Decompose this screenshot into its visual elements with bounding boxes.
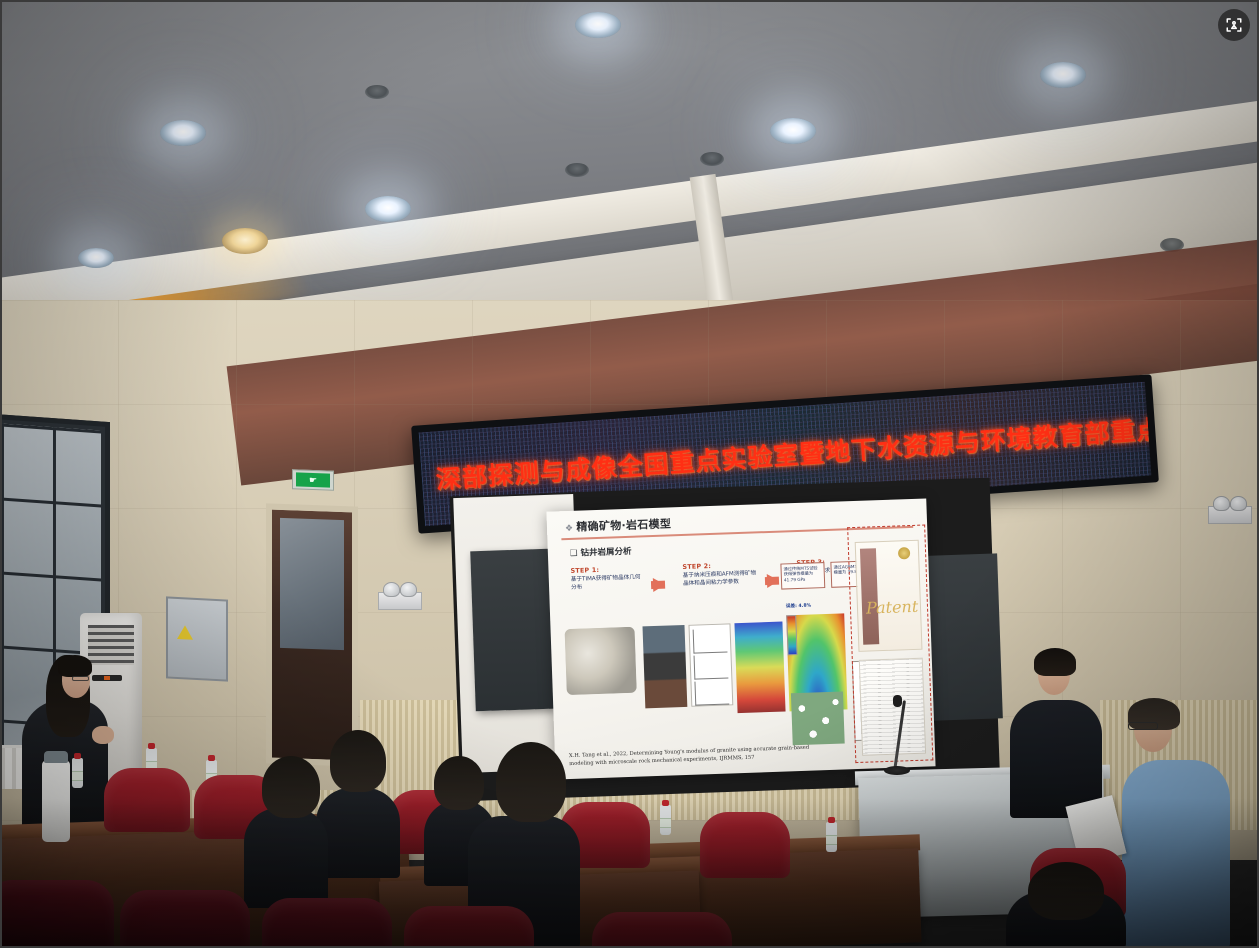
electrical-cabinet [166, 596, 228, 681]
ceiling-downlight [160, 120, 206, 146]
thermos-flask [42, 760, 70, 842]
glasses-icon [1128, 722, 1158, 730]
sem-image-stack [643, 625, 688, 708]
mineral-heatmap [734, 622, 785, 714]
ceiling-downlight [1040, 62, 1086, 88]
audience-head [496, 742, 566, 822]
ceiling-downlight-warm [222, 228, 268, 254]
ac-display [92, 675, 122, 681]
microphone-head [893, 695, 902, 707]
blackboard-left [470, 549, 554, 712]
conference-photo: ☛ 深部探测与成像全国重点实验室暨地下水资源与环境教育部重点实验室青年发展论坛 … [0, 0, 1259, 948]
ceiling-downlight [770, 118, 816, 144]
slide-steps: STEP 1: 基于TIMA获得矿物晶体几何分布 STEP 2: 基于纳米压痕和… [570, 556, 870, 566]
patent-word: Patent [866, 597, 919, 618]
microphone-base [884, 766, 910, 775]
emergency-light [378, 592, 422, 610]
sprinkler-head [365, 85, 389, 99]
water-bottle [72, 758, 83, 788]
ceiling-downlight [575, 12, 621, 38]
warning-triangle-icon [177, 625, 193, 640]
colorbar-legend [786, 615, 797, 655]
patent-group: Patent [847, 525, 933, 764]
arrow-right-icon [653, 578, 665, 592]
hair [1034, 648, 1076, 676]
emergency-light [1208, 506, 1252, 524]
auditorium-seat [592, 912, 732, 948]
diamond-bullet-icon: ❖ [565, 524, 574, 534]
audience-head [330, 730, 386, 792]
slide-citation: X.H. Tang et al., 2022, Determining Youn… [569, 744, 829, 769]
presenter-hand [92, 726, 114, 744]
patent-certificate: Patent [855, 540, 923, 652]
auditorium-seat [120, 890, 250, 948]
sprinkler-head [565, 163, 589, 177]
auditorium-seat [404, 906, 534, 948]
gold-seal-icon [898, 547, 910, 559]
slide-section-text: 钻井岩屑分析 [580, 547, 631, 559]
ceiling-downlight [365, 196, 411, 222]
indentation-curves [688, 623, 733, 706]
running-man-icon: ☛ [296, 472, 330, 487]
auditorium-seat [700, 812, 790, 878]
audience-head [1028, 862, 1104, 920]
auditorium-seat [104, 768, 190, 832]
arrow-right-icon [767, 574, 779, 588]
slide-step: STEP 2: 基于纳米压痕和AFM测得矿物晶体和晶间粘力学参数 [682, 560, 757, 588]
slide-section: ❑钻井岩屑分析 [570, 545, 632, 559]
body [1122, 760, 1230, 948]
slide-title: ❖精确矿物·岩石模型 [565, 515, 672, 535]
emergency-exit-sign: ☛ [292, 469, 334, 490]
glasses-icon [72, 676, 89, 681]
step-header: STEP 2: [682, 560, 756, 571]
slide-step: STEP 1: 基于TIMA获得矿物晶体几何分布 [570, 564, 645, 592]
audience-head [262, 756, 320, 818]
exit-door[interactable] [266, 503, 358, 766]
binary-segmentation-image [791, 691, 845, 745]
step-body: 基于纳米压痕和AFM测得矿物晶体和晶间粘力学参数 [683, 570, 757, 588]
auditorium-seat [262, 898, 392, 948]
patent-document [859, 658, 926, 756]
certificate-band [860, 548, 879, 644]
rock-sample-image [565, 627, 637, 695]
step-header: STEP 1: [570, 564, 644, 575]
step-body: 基于TIMA获得矿物晶体几何分布 [571, 574, 645, 592]
scan-object-button[interactable] [1218, 9, 1250, 41]
audience-head [434, 756, 484, 810]
auditorium-seat [0, 880, 114, 948]
audience-body [244, 808, 328, 908]
ceiling-downlight [78, 248, 114, 268]
slide-callout: 通过传统MTS试验获得弹性模量为 41.79 GPa [780, 562, 825, 590]
square-bullet-icon: ❑ [570, 549, 578, 559]
water-bottle [660, 805, 671, 835]
audience-body [316, 788, 400, 878]
presenter-fringe [58, 655, 92, 677]
ac-vent [88, 625, 134, 665]
scan-object-icon [1225, 16, 1243, 34]
projected-slide: ❖精确矿物·岩石模型 ❑钻井岩屑分析 STEP 1: 基于TIMA获得矿物晶体几… [546, 498, 935, 779]
slide-title-text: 精确矿物·岩石模型 [576, 517, 671, 533]
water-bottle [826, 822, 837, 852]
sprinkler-head [700, 152, 724, 166]
error-label: 误差: 4.8% [786, 603, 812, 610]
door-glass [280, 518, 344, 650]
